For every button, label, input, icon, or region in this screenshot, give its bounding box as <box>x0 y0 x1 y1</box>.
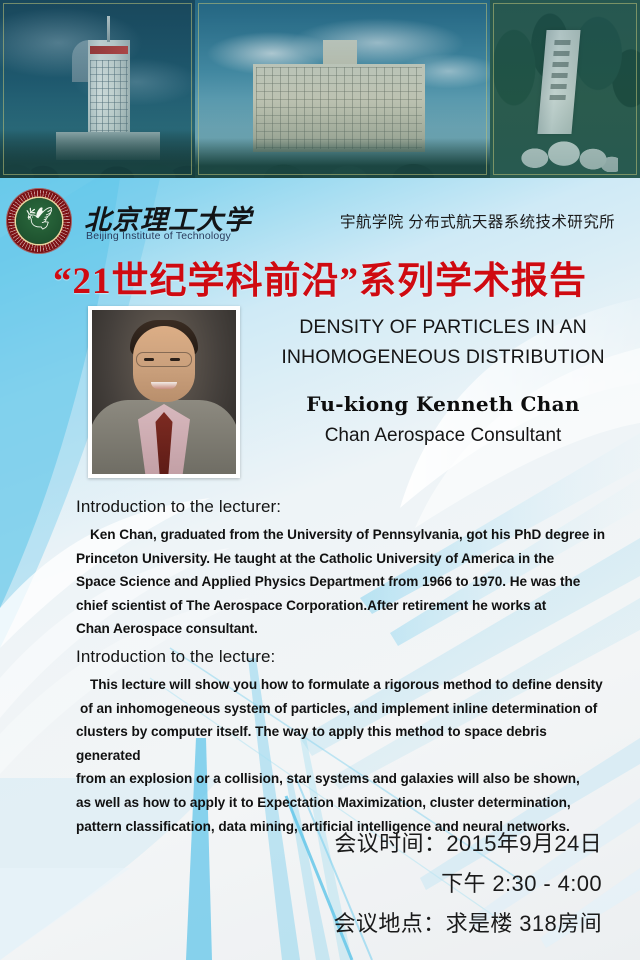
lecture-abstract-line-1: This lecture will show you how to formul… <box>90 677 603 692</box>
campus-photo-banner <box>0 0 640 178</box>
lecturer-bio-line-5: Chan Aerospace consultant. <box>76 621 258 636</box>
lecture-abstract-line-5: as well as how to apply it to Expectatio… <box>76 795 571 810</box>
portrait-eye-left <box>144 358 154 361</box>
lecturer-bio-line-3: Space Science and Applied Physics Depart… <box>76 574 580 589</box>
lecturer-bio-paragraph: Ken Chan, graduated from the University … <box>76 523 606 641</box>
tree-line-shape <box>0 130 195 178</box>
series-title: “21世纪学科前沿”系列学术报告 <box>0 250 640 304</box>
dove-icon: 🕊 <box>25 208 53 230</box>
banner-panel-motto-monument <box>490 0 640 178</box>
lecturer-bio-line-2: Princeton University. He taught at the C… <box>76 551 554 566</box>
department-name: 宇航学院 分布式航天器系统技术研究所 <box>340 210 615 232</box>
tree-line-shape <box>195 138 490 178</box>
meeting-time-range: 下午 2:30 - 4:00 <box>441 866 602 898</box>
talk-title: DENSITY OF PARTICLES IN AN INHOMOGENEOUS… <box>262 312 624 372</box>
logo-inner-disc: 🕊 <box>16 198 62 244</box>
portrait-photo <box>92 310 236 474</box>
banner-panel-campus-building <box>195 0 490 178</box>
lecture-abstract-paragraph: This lecture will show you how to formul… <box>76 673 606 838</box>
banner-panel-main-tower <box>0 0 195 178</box>
bit-logo: 🕊 <box>6 188 72 254</box>
lecturer-section-heading: Introduction to the lecturer: <box>76 497 281 517</box>
university-name-en: Beijing Institute of Technology <box>86 230 231 242</box>
lecture-abstract-line-4: from an explosion or a collision, star s… <box>76 771 580 786</box>
lecturer-bio-line-1: Ken Chan, graduated from the University … <box>90 527 605 542</box>
speaker-name: Fu-kiong Kenneth Chan <box>262 392 624 416</box>
lecture-abstract-line-3: clusters by computer itself. The way to … <box>76 724 547 763</box>
speaker-portrait <box>88 306 240 478</box>
rockery-shape <box>514 126 618 172</box>
portrait-smile-shape <box>151 382 177 389</box>
seminar-poster: 🕊 北京理工大学 Beijing Institute of Technology… <box>0 0 640 960</box>
portrait-eye-right <box>170 358 180 361</box>
meeting-location: 会议地点：求是楼 318房间 <box>334 906 602 938</box>
talk-title-line-1: DENSITY OF PARTICLES IN AN <box>262 312 624 342</box>
lecturer-bio-line-4: chief scientist of The Aerospace Corpora… <box>76 598 546 613</box>
lecture-abstract-line-2: of an inhomogeneous system of particles,… <box>80 701 597 716</box>
antenna-mast-shape <box>107 16 110 42</box>
talk-title-line-2: INHOMOGENEOUS DISTRIBUTION <box>262 342 624 372</box>
lecture-section-heading: Introduction to the lecture: <box>76 647 275 667</box>
meeting-time: 会议时间：2015年9月24日 <box>334 826 602 858</box>
speaker-affiliation: Chan Aerospace Consultant <box>262 425 624 447</box>
